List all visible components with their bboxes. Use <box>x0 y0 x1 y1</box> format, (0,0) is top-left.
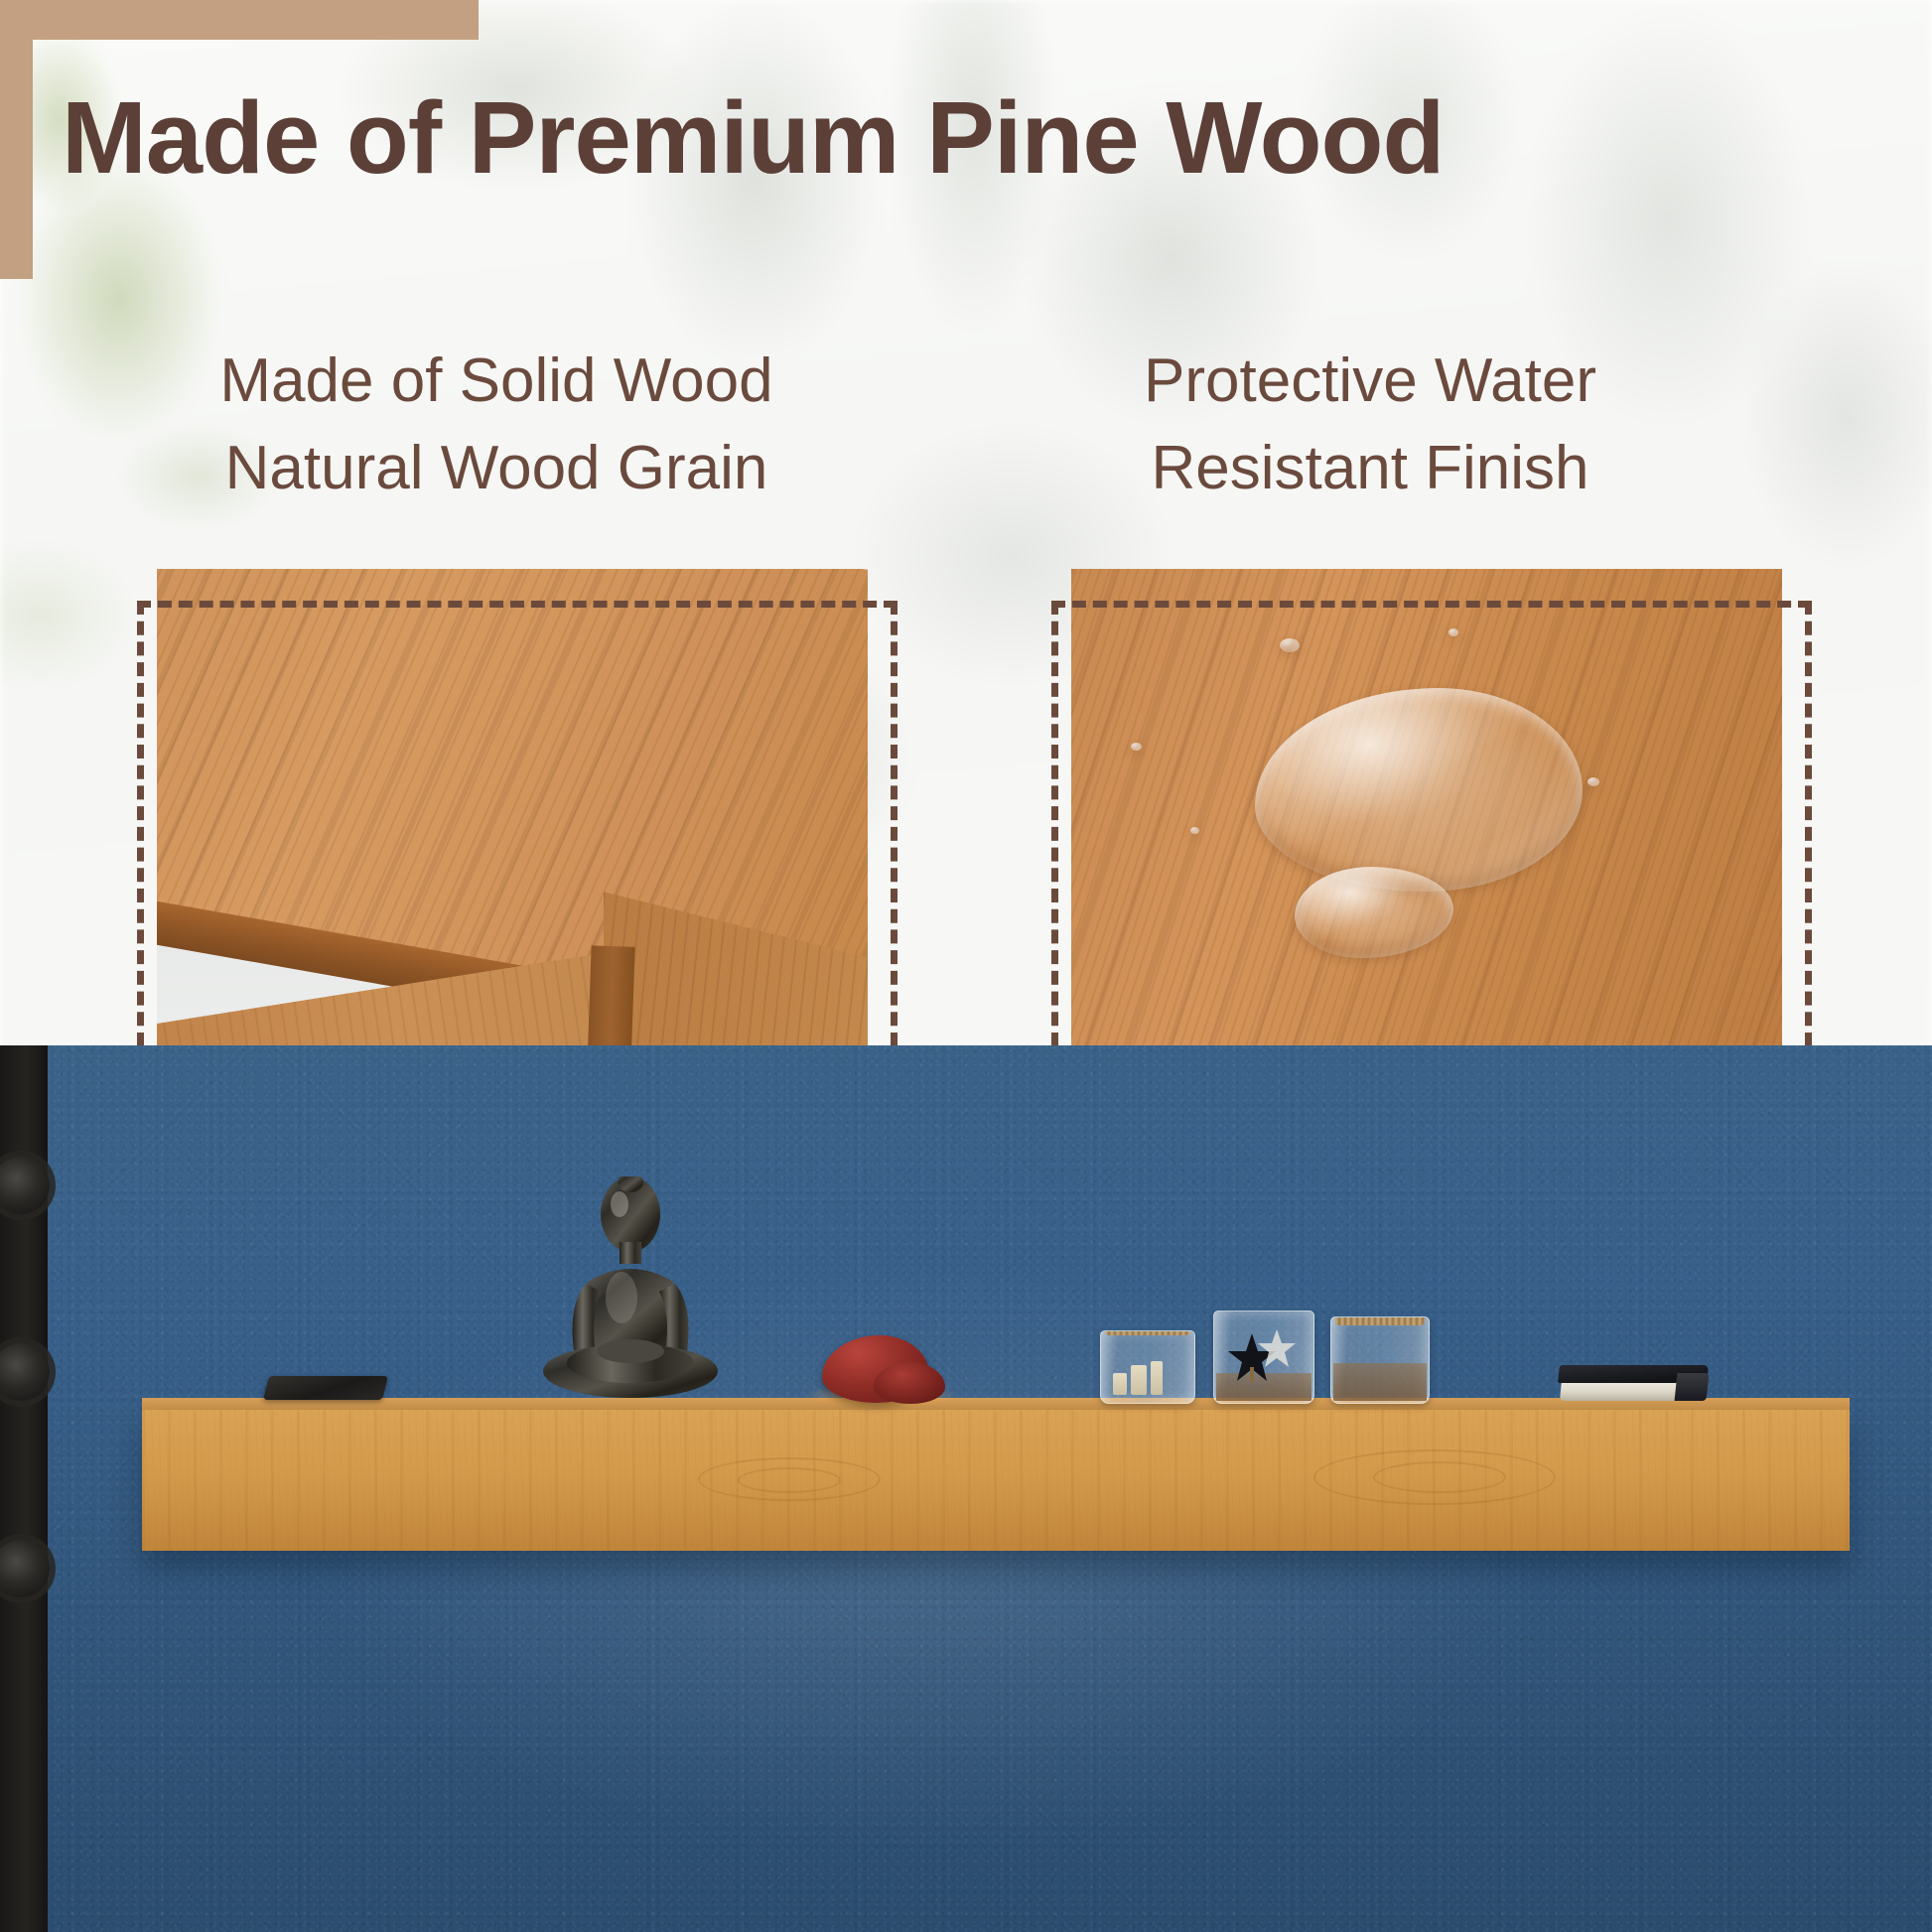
feature-caption-line-1: Made of Solid Wood <box>119 338 874 425</box>
water-droplet-small <box>1280 638 1300 652</box>
shelf-front-face <box>142 1410 1850 1551</box>
wood-knot <box>738 1467 841 1493</box>
speaker-tower <box>0 1045 48 1932</box>
page-title: Made of Premium Pine Wood <box>62 82 1918 193</box>
feature-caption-line-2: Resistant Finish <box>993 425 1747 512</box>
glass-jar-sand <box>1330 1316 1430 1404</box>
floating-wall-shelf <box>142 1398 1850 1551</box>
book <box>1559 1365 1708 1403</box>
water-droplet-tiny-1 <box>1131 743 1142 751</box>
buddha-statue <box>516 1176 745 1403</box>
water-droplet-tiny-2 <box>1190 827 1199 834</box>
book-spine <box>1675 1373 1710 1401</box>
speaker-driver-icon <box>0 1540 50 1597</box>
candle <box>1113 1373 1127 1395</box>
jar-rope-band <box>1335 1316 1425 1325</box>
infographic-canvas: Made of Premium Pine Wood Made of Solid … <box>0 0 1932 1932</box>
corner-accent-top <box>0 0 479 40</box>
jar-star-icon <box>1214 1311 1313 1403</box>
feature-caption-solid-wood: Made of Solid Wood Natural Wood Grain <box>119 338 874 512</box>
jar-sand-fill <box>1333 1363 1427 1401</box>
feature-caption-line-2: Natural Wood Grain <box>119 425 874 512</box>
feature-caption-water-resistant: Protective Water Resistant Finish <box>993 338 1747 512</box>
water-droplet-tiny-3 <box>1449 628 1458 636</box>
speaker-driver-icon <box>0 1157 50 1214</box>
glass-jar-candles <box>1100 1330 1195 1404</box>
corner-accent-left <box>0 0 33 279</box>
jar-rope-band <box>1105 1330 1190 1335</box>
wood-knot <box>1373 1461 1506 1493</box>
speaker-driver-icon <box>0 1343 50 1401</box>
water-droplet-tiny-4 <box>1587 777 1599 786</box>
candle <box>1131 1365 1147 1395</box>
remote-control <box>263 1376 388 1400</box>
buddha-statue-icon <box>516 1176 745 1403</box>
candle <box>1151 1361 1163 1395</box>
feature-caption-line-1: Protective Water <box>993 338 1747 425</box>
red-stone-ornament-secondary <box>874 1362 945 1404</box>
glass-jar-stars <box>1213 1311 1314 1404</box>
